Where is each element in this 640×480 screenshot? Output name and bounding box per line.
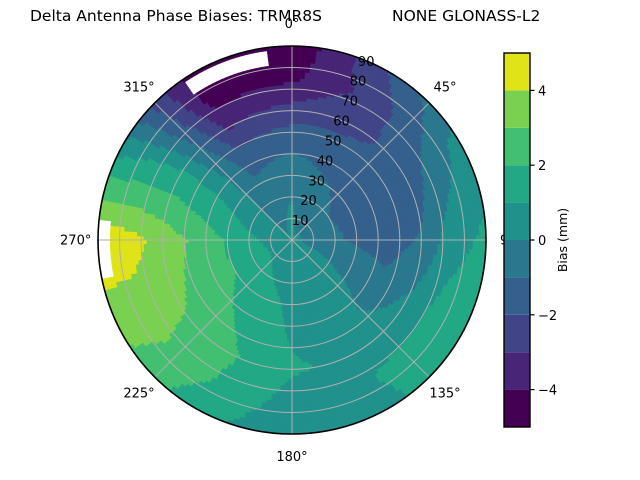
- angular-tick-225: 225°: [123, 387, 154, 402]
- colorbar-band-9: [504, 53, 530, 90]
- figure-title-antenna: Delta Antenna Phase Biases: TRMR8S: [30, 7, 322, 25]
- angular-tick-315: 315°: [123, 81, 154, 96]
- colorbar-band-0: [504, 390, 530, 427]
- colorbar-axis-label: Bias (mm): [555, 208, 570, 272]
- radial-tick-90: 90: [358, 55, 375, 70]
- polar-contour-figure: Delta Antenna Phase Biases: TRMR8S NONE …: [0, 0, 640, 480]
- angular-tick-270: 270°: [60, 234, 91, 249]
- radial-tick-10: 10: [292, 214, 309, 229]
- polar-axes: 0°45°90135°180°225°270°315° 102030405060…: [60, 17, 517, 465]
- colorbar-tick-label-0: −4: [538, 384, 557, 399]
- colorbar-band-6: [504, 165, 530, 202]
- colorbar-band-3: [504, 277, 530, 314]
- radial-tick-20: 20: [300, 194, 317, 209]
- colorbar-bands: [504, 53, 530, 427]
- angular-tick-180: 180°: [276, 450, 307, 465]
- angular-tick-0: 0°: [285, 17, 300, 32]
- radial-tick-50: 50: [325, 134, 342, 149]
- colorbar-tick-label-1: −2: [538, 309, 557, 324]
- radial-tick-30: 30: [308, 174, 325, 189]
- angular-tick-135: 135°: [429, 387, 460, 402]
- colorbar-band-5: [504, 203, 530, 240]
- polar-gridlines: [98, 46, 486, 434]
- colorbar-band-8: [504, 90, 530, 127]
- colorbar-band-1: [504, 352, 530, 389]
- figure-canvas: Delta Antenna Phase Biases: TRMR8S NONE …: [0, 0, 640, 480]
- radial-tick-70: 70: [341, 95, 358, 110]
- radial-tick-40: 40: [317, 154, 334, 169]
- colorbar-tick-label-4: 4: [538, 84, 546, 99]
- figure-title-signal: NONE GLONASS-L2: [392, 7, 540, 25]
- radial-tick-60: 60: [333, 115, 350, 130]
- colorbar-tick-label-2: 0: [538, 234, 546, 249]
- colorbar-band-4: [504, 240, 530, 277]
- colorbar-band-7: [504, 128, 530, 165]
- colorbar-band-2: [504, 315, 530, 352]
- radial-tick-80: 80: [350, 75, 367, 90]
- colorbar-tick-label-3: 2: [538, 159, 546, 174]
- angular-tick-45: 45°: [433, 81, 456, 96]
